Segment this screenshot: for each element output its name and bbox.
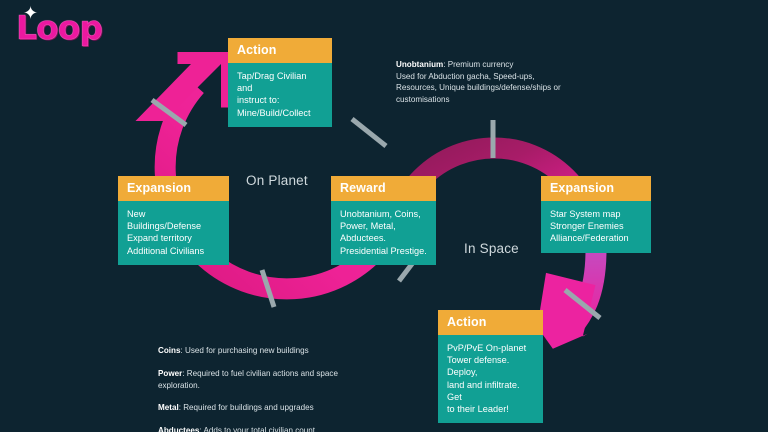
legend-item: Metal: Required for buildings and upgrad… [158, 402, 373, 413]
legend-item: Coins: Used for purchasing new buildings [158, 345, 373, 356]
card-body: Tap/Drag Civilian and instruct to: Mine/… [228, 63, 332, 127]
legend-text: : Used for purchasing new buildings [180, 346, 308, 355]
card-title: Expansion [118, 176, 229, 201]
tick-mark [262, 270, 274, 307]
legend-text: : Required for buildings and upgrades [179, 403, 314, 412]
card-expansion-right[interactable]: Expansion Star System map Stronger Enemi… [541, 176, 651, 253]
card-expansion-left[interactable]: Expansion New Buildings/Defense Expand t… [118, 176, 229, 265]
tick-mark [352, 119, 386, 146]
legend-text: : Required to fuel civilian actions and … [158, 369, 338, 389]
note-unobtanium: Unobtanium: Premium currency Used for Ab… [396, 48, 606, 105]
zone-label-on-planet: On Planet [246, 173, 308, 188]
card-body: PvP/PvE On-planet Tower defense. Deploy,… [438, 335, 543, 423]
legend-text: : Adds to your total civilian count. [199, 426, 317, 432]
zone-label-in-space: In Space [464, 241, 519, 256]
logo-wordmark: Loop [16, 8, 102, 48]
legend-term: Power [158, 369, 182, 378]
card-body: Unobtanium, Coins, Power, Metal, Abducte… [331, 201, 436, 265]
legend-term: Abductees [158, 426, 199, 432]
stripe-teal [0, 0, 6, 299]
card-title: Expansion [541, 176, 651, 201]
note-resources-legend: Coins: Used for purchasing new buildings… [158, 334, 373, 432]
card-reward[interactable]: Reward Unobtanium, Coins, Power, Metal, … [331, 176, 436, 265]
card-title: Action [438, 310, 543, 335]
diagram-canvas: ✦ Loop [0, 0, 768, 432]
card-body: Star System map Stronger Enemies Allianc… [541, 201, 651, 253]
tick-mark [152, 100, 186, 125]
note-term: Unobtanium [396, 60, 443, 69]
card-action-bottom[interactable]: Action PvP/PvE On-planet Tower defense. … [438, 310, 543, 423]
card-body: New Buildings/Defense Expand territory A… [118, 201, 229, 265]
card-title: Reward [331, 176, 436, 201]
card-title: Action [228, 38, 332, 63]
card-action-top[interactable]: Action Tap/Drag Civilian and instruct to… [228, 38, 332, 127]
legend-term: Coins [158, 346, 180, 355]
legend-term: Metal [158, 403, 179, 412]
legend-item: Power: Required to fuel civilian actions… [158, 368, 373, 391]
tick-mark [565, 290, 600, 318]
legend-item: Abductees: Adds to your total civilian c… [158, 425, 373, 432]
app-logo[interactable]: ✦ Loop [10, 6, 125, 52]
